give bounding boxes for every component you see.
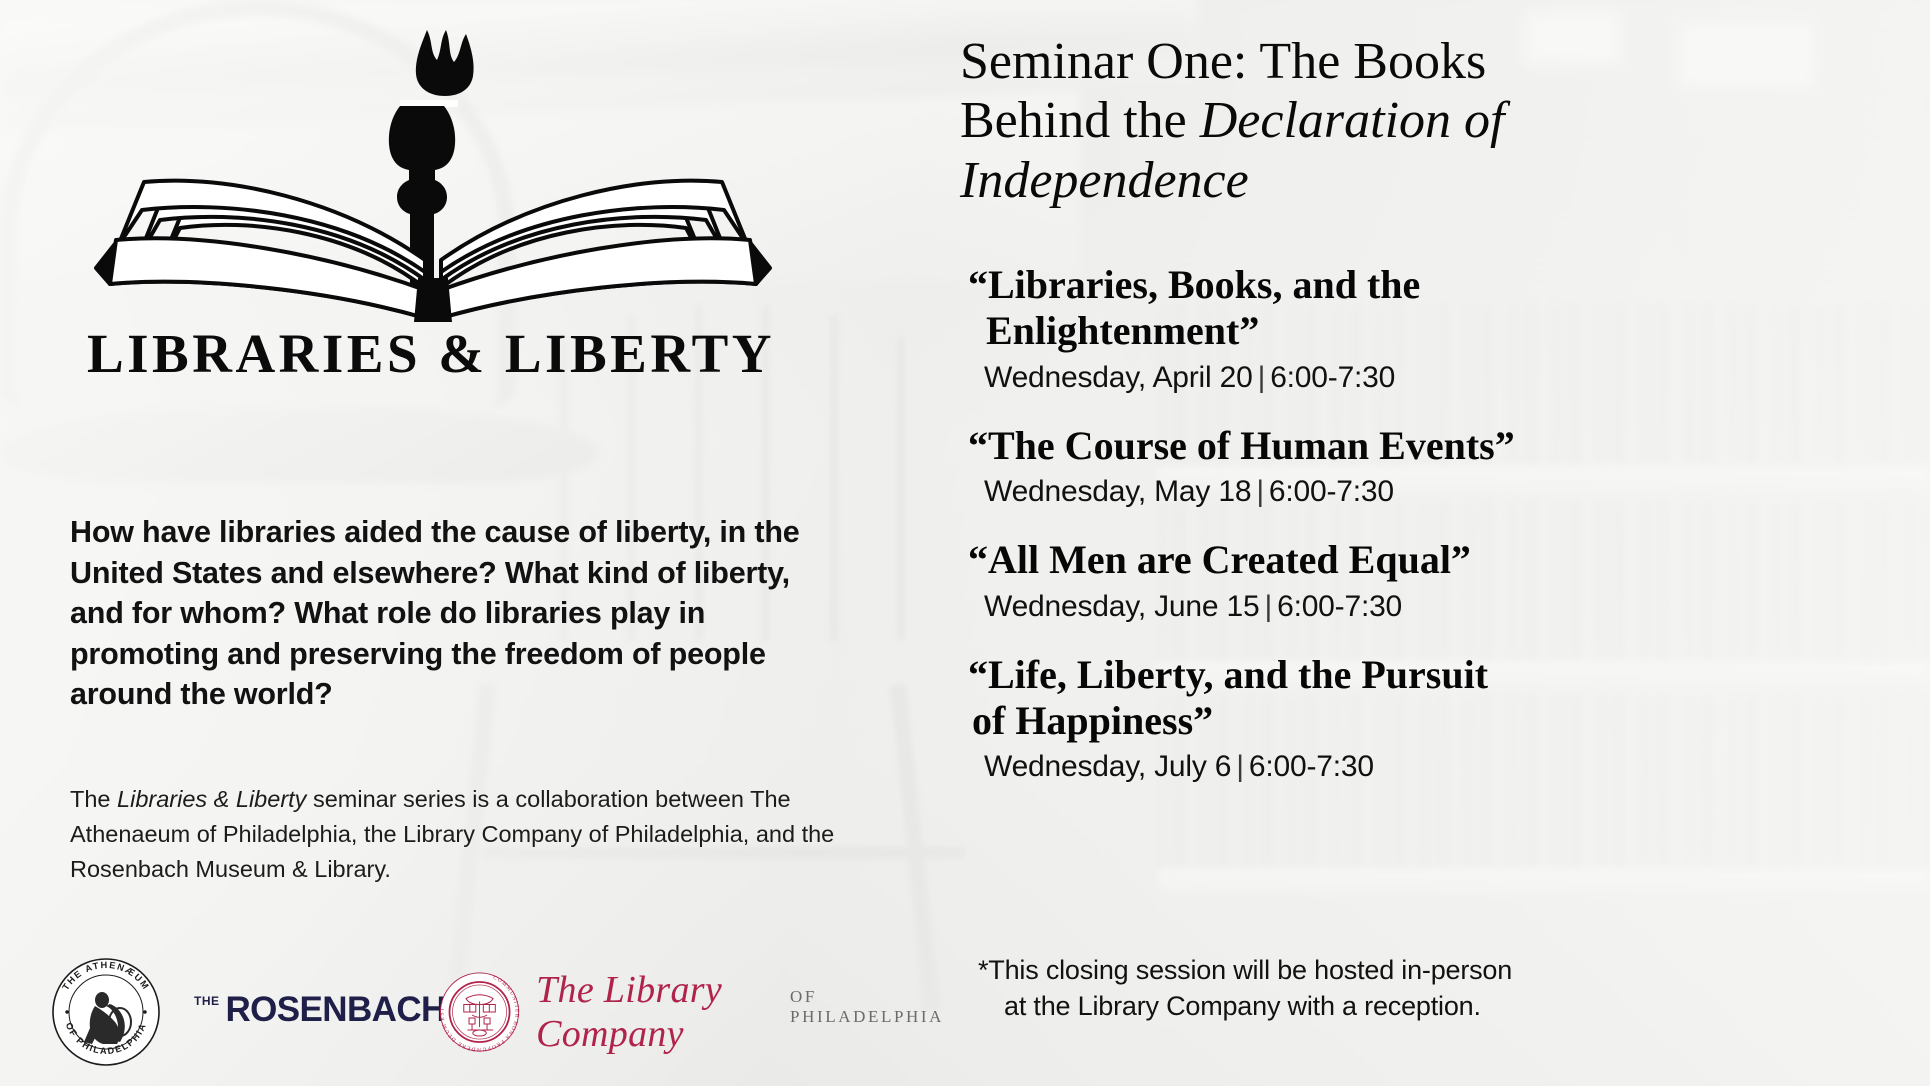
session-title-line1: “The Course of Human Events” [968, 423, 1900, 469]
library-company-subtitle: OF PHILADELPHIA [790, 987, 944, 1027]
seminar-title-line1: Seminar One: The Books [960, 33, 1486, 90]
session-date: Wednesday, June 15|6:00-7:30 [960, 587, 1900, 626]
seminar-title-line3-italic: Independence [960, 152, 1249, 209]
session-time: 6:00-7:30 [1249, 750, 1374, 783]
session-item: “All Men are Created Equal” Wednesday, J… [960, 537, 1900, 625]
session-day: Wednesday, June 15 [984, 590, 1259, 623]
left-column: LIBRARIES & LIBERTY How have libraries a… [0, 0, 965, 1086]
rosenbach-the-label: THE [194, 994, 220, 1008]
session-item: “Life, Liberty, and the Pursuit of Happi… [960, 652, 1900, 787]
lede-paragraph: How have libraries aided the cause of li… [70, 512, 830, 715]
seminar-title-line2-italic: Declaration of [1200, 92, 1505, 149]
session-title-line1: “Life, Liberty, and the Pursuit [968, 652, 1900, 698]
session-day: Wednesday, May 18 [984, 475, 1251, 508]
poster-content: LIBRARIES & LIBERTY How have libraries a… [0, 0, 1930, 1086]
session-title: “All Men are Created Equal” [960, 537, 1900, 583]
session-title-line1: “All Men are Created Equal” [968, 537, 1900, 583]
blurb-pre: The [70, 786, 117, 812]
brand-wordmark: LIBRARIES & LIBERTY [86, 322, 776, 385]
athenaeum-seal-logo: THE ATHENÆUM OF PHILADELPHIA [50, 956, 162, 1068]
session-time: 6:00-7:30 [1277, 590, 1402, 623]
session-time: 6:00-7:30 [1269, 475, 1394, 508]
session-title-line2: Enlightenment” [968, 308, 1900, 354]
session-title-line2: of Happiness” [968, 698, 1900, 744]
seminar-title-line2-plain: Behind the [960, 92, 1200, 149]
seminar-title: Seminar One: The Books Behind the Declar… [960, 32, 1600, 210]
collaboration-blurb: The Libraries & Liberty seminar series i… [70, 782, 860, 886]
poster: LIBRARIES & LIBERTY How have libraries a… [0, 0, 1930, 1086]
session-date: Wednesday, July 6|6:00-7:30 [960, 747, 1900, 786]
footnote-line2: at the Library Company with a reception. [978, 988, 1878, 1024]
session-title: “The Course of Human Events” [960, 423, 1900, 469]
library-company-logo: COMMUNITER BONA PROFUNDERE DEUM EST · Th… [439, 958, 944, 1066]
session-separator: | [1231, 750, 1249, 783]
session-day: Wednesday, April 20 [984, 361, 1253, 394]
session-separator: | [1251, 475, 1269, 508]
session-item: “The Course of Human Events” Wednesday, … [960, 423, 1900, 511]
session-item: “Libraries, Books, and the Enlightenment… [960, 262, 1900, 397]
library-company-seal-icon: COMMUNITER BONA PROFUNDERE DEUM EST · [439, 958, 520, 1066]
footnote: *This closing session will be hosted in-… [978, 952, 1878, 1024]
library-company-name: The Library Company [536, 968, 778, 1056]
library-company-wordmark: The Library Company OF PHILADELPHIA [536, 968, 944, 1056]
session-title: “Life, Liberty, and the Pursuit of Happi… [960, 652, 1900, 745]
footnote-line1: *This closing session will be hosted in-… [978, 955, 1512, 985]
session-date: Wednesday, May 18|6:00-7:30 [960, 472, 1900, 511]
sessions-list: “Libraries, Books, and the Enlightenment… [960, 262, 1900, 798]
partner-logos-row: THE ATHENÆUM OF PHILADELPHIA THE ROSENBA… [44, 952, 944, 1072]
session-separator: | [1259, 590, 1277, 623]
session-title-line1: “Libraries, Books, and the [968, 262, 1900, 308]
session-title: “Libraries, Books, and the Enlightenment… [960, 262, 1900, 355]
session-separator: | [1253, 361, 1271, 394]
session-time: 6:00-7:30 [1270, 361, 1395, 394]
blurb-series-name: Libraries & Liberty [117, 786, 306, 812]
session-day: Wednesday, July 6 [984, 750, 1231, 783]
right-column: Seminar One: The Books Behind the Declar… [960, 0, 1930, 1086]
open-book-with-torch-icon [88, 22, 778, 322]
session-date: Wednesday, April 20|6:00-7:30 [960, 358, 1900, 397]
rosenbach-title: ROSENBACH [226, 992, 446, 1027]
